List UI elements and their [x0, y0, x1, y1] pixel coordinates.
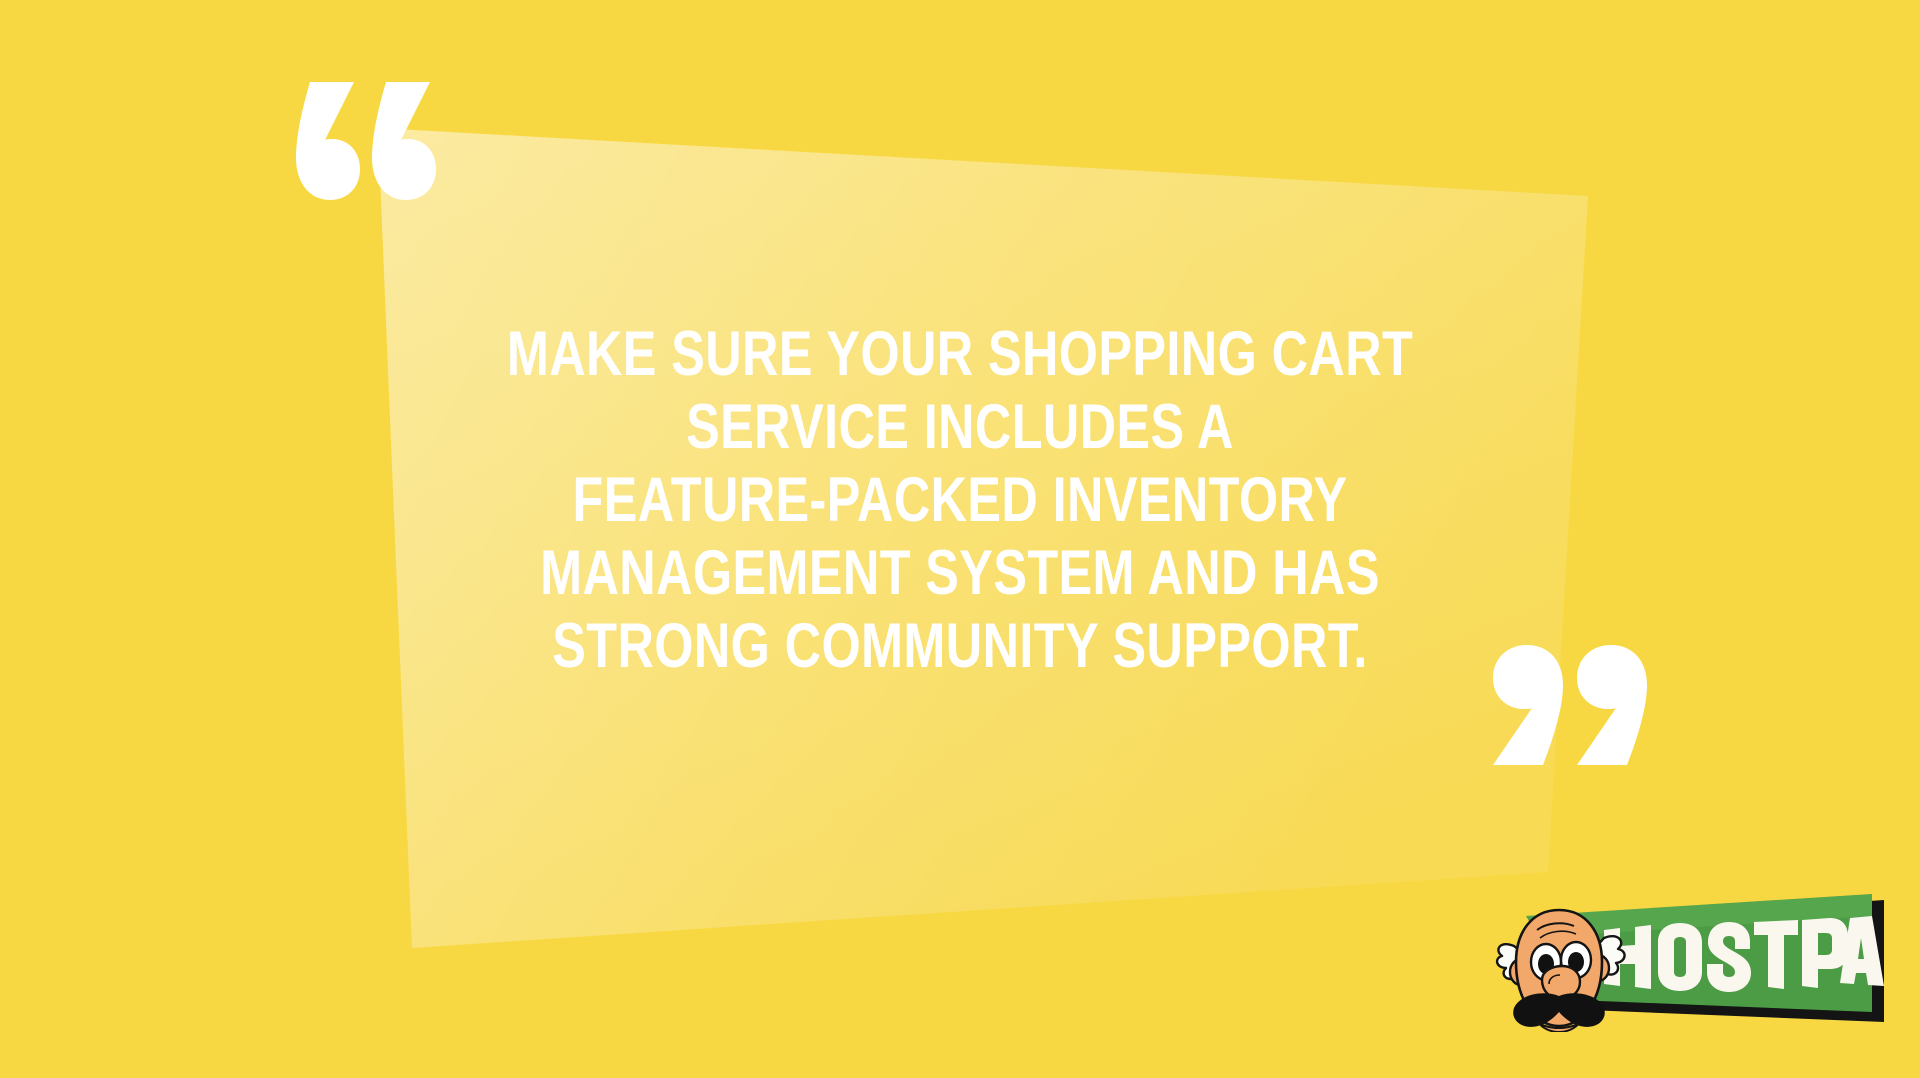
closing-quote-icon	[1487, 645, 1647, 765]
quote-body-text: MAKE SURE YOUR SHOPPING CART SERVICE INC…	[488, 318, 1432, 683]
hostpapa-logo[interactable]	[1492, 894, 1884, 1032]
opening-quote-icon	[296, 82, 436, 202]
quote-card: MAKE SURE YOUR SHOPPING CART SERVICE INC…	[0, 0, 1920, 1078]
